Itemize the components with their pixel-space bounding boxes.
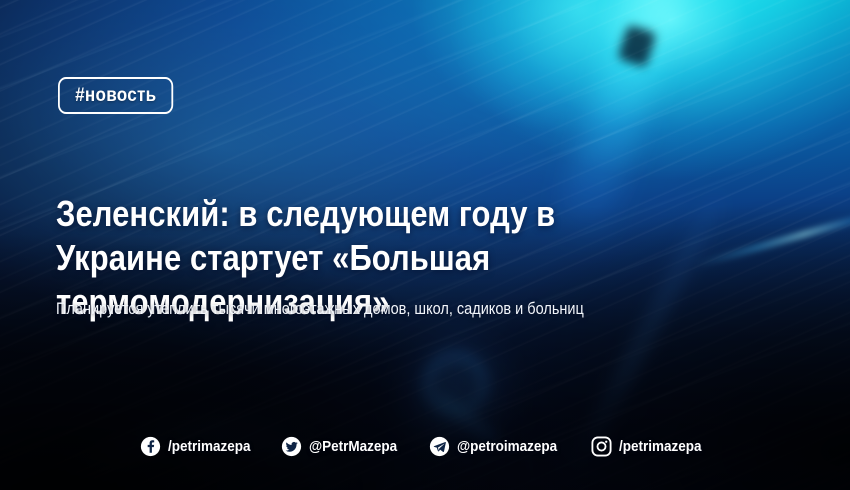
twitter-icon [281,436,302,457]
social-link-facebook[interactable]: /petrimazepa [140,436,260,457]
news-card: #новость Зеленский: в следующем году в У… [0,0,850,490]
category-badge-label: #новость [75,85,156,107]
social-handle-telegram: @petroimazepa [457,438,557,455]
social-handle-instagram: /petrimazepa [619,438,702,455]
social-link-instagram[interactable]: /petrimazepa [591,436,711,457]
social-links: /petrimazepa @PetrMazepa @petroimazepa [0,436,850,457]
social-link-twitter[interactable]: @PetrMazepa [281,436,407,457]
facebook-icon [140,436,161,457]
subtitle: Планируется утеплить тысячи многоэтажных… [56,298,690,320]
instagram-icon [591,436,612,457]
card-content: #новость Зеленский: в следующем году в У… [0,0,850,490]
social-handle-twitter: @PetrMazepa [309,438,397,455]
category-badge[interactable]: #новость [58,77,174,114]
telegram-icon [429,436,450,457]
social-handle-facebook: /petrimazepa [168,438,251,455]
social-link-telegram[interactable]: @petroimazepa [429,436,568,457]
